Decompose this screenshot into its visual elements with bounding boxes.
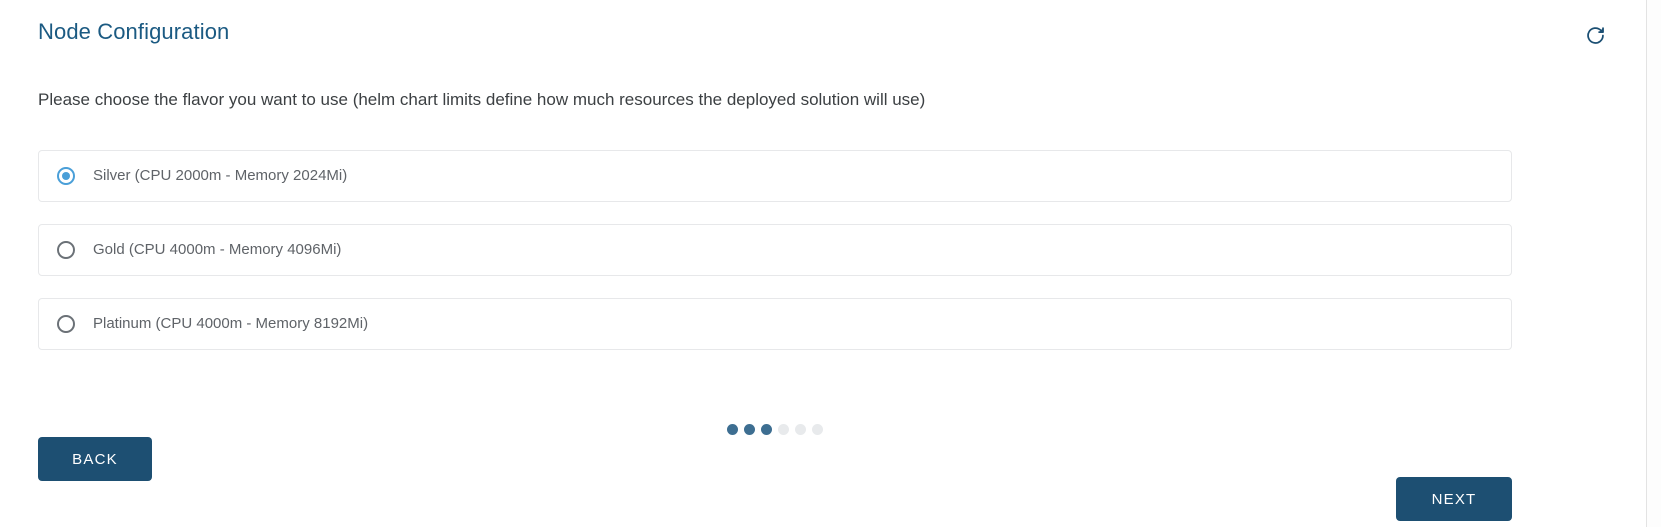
- node-configuration-page: Node Configuration Please choose the fla…: [0, 0, 1646, 527]
- radio-gold[interactable]: [57, 241, 75, 259]
- refresh-icon: [1585, 25, 1606, 46]
- flavor-option-label: Platinum (CPU 4000m - Memory 8192Mi): [93, 314, 368, 334]
- step-dot-6: [812, 424, 823, 435]
- step-dot-3: [761, 424, 772, 435]
- radio-silver[interactable]: [57, 167, 75, 185]
- flavor-option-label: Silver (CPU 2000m - Memory 2024Mi): [93, 166, 347, 186]
- right-edge-divider: [1646, 0, 1661, 527]
- instruction-text: Please choose the flavor you want to use…: [38, 88, 925, 112]
- step-dot-4: [778, 424, 789, 435]
- flavor-option-platinum[interactable]: Platinum (CPU 4000m - Memory 8192Mi): [38, 298, 1512, 350]
- step-dot-5: [795, 424, 806, 435]
- step-dot-1: [727, 424, 738, 435]
- flavor-option-list: Silver (CPU 2000m - Memory 2024Mi) Gold …: [38, 150, 1512, 350]
- page-title: Node Configuration: [38, 17, 229, 47]
- wizard-step-indicator: [0, 424, 1549, 435]
- step-dot-2: [744, 424, 755, 435]
- radio-platinum[interactable]: [57, 315, 75, 333]
- refresh-button[interactable]: [1578, 18, 1612, 52]
- flavor-option-label: Gold (CPU 4000m - Memory 4096Mi): [93, 240, 341, 260]
- back-button[interactable]: BACK: [38, 437, 152, 481]
- flavor-option-gold[interactable]: Gold (CPU 4000m - Memory 4096Mi): [38, 224, 1512, 276]
- next-button[interactable]: NEXT: [1396, 477, 1512, 521]
- flavor-option-silver[interactable]: Silver (CPU 2000m - Memory 2024Mi): [38, 150, 1512, 202]
- page-header: Node Configuration: [0, 0, 1646, 64]
